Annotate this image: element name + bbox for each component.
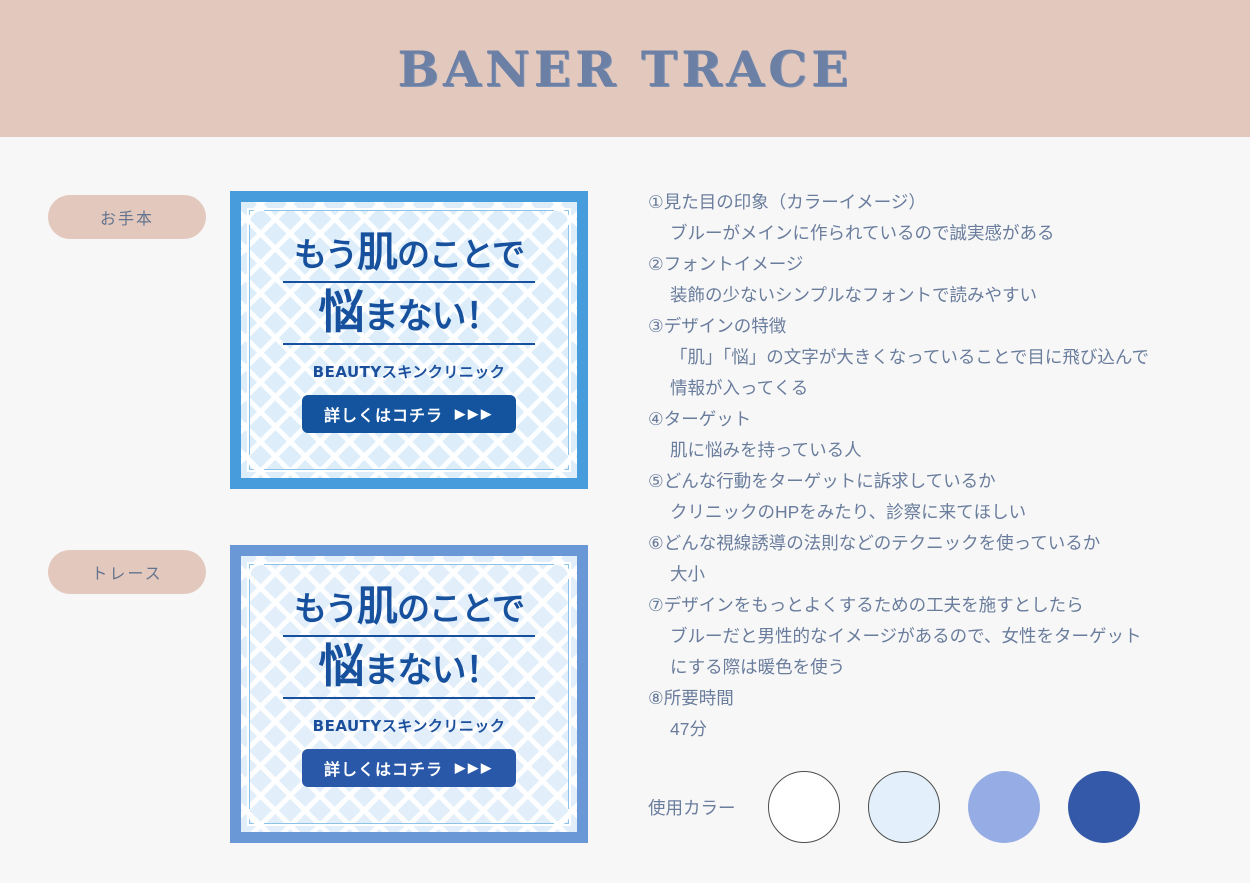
- colors-used-row: 使用カラー: [640, 771, 1250, 843]
- headline1-emphasis-hada: 肌: [357, 228, 397, 276]
- color-swatch-white: [768, 771, 840, 843]
- banner-headline-2: 悩まない！: [318, 287, 499, 338]
- banner-trace-content: もう肌のことで 悩まない！ BEAUTYスキンクリニック 詳しくはコチラ ▶▶▶: [241, 556, 577, 832]
- headline2-part: まない！: [363, 297, 499, 337]
- headline-divider-bottom: [283, 343, 535, 345]
- analysis-note-line: 情報が入ってくる: [648, 373, 1250, 404]
- analysis-note-line: ⑤どんな行動をターゲットに訴求しているか: [648, 466, 1250, 497]
- analysis-note-line: ④ターゲット: [648, 404, 1250, 435]
- analysis-column: ①見た目の印象（カラーイメージ）ブルーがメインに作られているので誠実感がある②フ…: [640, 137, 1250, 883]
- banner-otehon-content: もう肌のことで 悩まない！ BEAUTYスキンクリニック 詳しくはコチラ ▶▶▶: [241, 202, 577, 478]
- analysis-note-line: 肌に悩みを持っている人: [648, 435, 1250, 466]
- analysis-note-line: 47分: [648, 714, 1250, 745]
- banner-clinic-name: BEAUTYスキンクリニック: [313, 715, 506, 736]
- analysis-note-line: ③デザインの特徴: [648, 311, 1250, 342]
- label-trace-text: トレース: [91, 560, 162, 584]
- cta-label: 詳しくはコチラ: [324, 756, 443, 780]
- headline-divider-top: [283, 635, 535, 637]
- headline1-part-a: もう: [294, 589, 357, 628]
- page-title: BANER TRACE: [398, 40, 853, 98]
- headline-divider-bottom: [283, 697, 535, 699]
- analysis-note-line: ⑥どんな視線誘導の法則などのテクニックを使っているか: [648, 528, 1250, 559]
- analysis-note-line: ⑦デザインをもっとよくするための工夫を施すとしたら: [648, 590, 1250, 621]
- cta-label: 詳しくはコチラ: [324, 402, 443, 426]
- page-body: お手本 もう肌のことで 悩まない！ BEAUTYスキンクリニック 詳しく: [0, 137, 1250, 883]
- color-swatch-royal-blue: [1068, 771, 1140, 843]
- banner-trace: もう肌のことで 悩まない！ BEAUTYスキンクリニック 詳しくはコチラ ▶▶▶: [230, 545, 588, 843]
- banner-clinic-name: BEAUTYスキンクリニック: [313, 361, 506, 382]
- analysis-note-line: 大小: [648, 559, 1250, 590]
- cta-arrows-icon: ▶▶▶: [455, 406, 494, 422]
- banner-trace-inner: もう肌のことで 悩まない！ BEAUTYスキンクリニック 詳しくはコチラ ▶▶▶: [241, 556, 577, 832]
- colors-used-label: 使用カラー: [648, 795, 736, 820]
- analysis-note-line: ②フォントイメージ: [648, 249, 1250, 280]
- color-swatch-periwinkle-blue: [968, 771, 1040, 843]
- headline1-part-b: のことで: [397, 589, 524, 628]
- analysis-note-line: 装飾の少ないシンプルなフォントで読みやすい: [648, 280, 1250, 311]
- color-swatch-group: [768, 771, 1140, 843]
- banner-cta-button[interactable]: 詳しくはコチラ ▶▶▶: [302, 395, 516, 433]
- headline1-part-a: もう: [294, 235, 357, 274]
- banners-column: お手本 もう肌のことで 悩まない！ BEAUTYスキンクリニック 詳しく: [0, 137, 640, 883]
- analysis-note-line: ブルーだと男性的なイメージがあるので、女性をターゲット: [648, 621, 1250, 652]
- color-swatch-pale-blue: [868, 771, 940, 843]
- cta-arrows-icon: ▶▶▶: [455, 760, 494, 776]
- label-trace: トレース: [48, 550, 206, 594]
- banner-otehon: もう肌のことで 悩まない！ BEAUTYスキンクリニック 詳しくはコチラ ▶▶▶: [230, 191, 588, 489]
- analysis-note-line: ①見た目の印象（カラーイメージ）: [648, 187, 1250, 218]
- headline1-part-b: のことで: [397, 235, 524, 274]
- banner-headline-2: 悩まない！: [318, 641, 499, 692]
- label-otehon-text: お手本: [100, 205, 154, 229]
- analysis-note-line: 「肌」「悩」の文字が大きくなっていることで目に飛び込んで: [648, 342, 1250, 373]
- headline-divider-top: [283, 281, 535, 283]
- headline2-part: まない！: [363, 651, 499, 691]
- headline1-emphasis-hada: 肌: [357, 582, 397, 630]
- label-otehon: お手本: [48, 195, 206, 239]
- banner-otehon-inner: もう肌のことで 悩まない！ BEAUTYスキンクリニック 詳しくはコチラ ▶▶▶: [241, 202, 577, 478]
- analysis-note-line: ブルーがメインに作られているので誠実感がある: [648, 218, 1250, 249]
- headline2-emphasis-nayami: 悩: [318, 285, 363, 339]
- analysis-note-line: クリニックのHPをみたり、診察に来てほしい: [648, 497, 1250, 528]
- banner-headline-1: もう肌のことで: [294, 584, 524, 630]
- banner-cta-button[interactable]: 詳しくはコチラ ▶▶▶: [302, 749, 516, 787]
- headline2-emphasis-nayami: 悩: [318, 639, 363, 693]
- analysis-note-line: にする際は暖色を使う: [648, 652, 1250, 683]
- analysis-notes: ①見た目の印象（カラーイメージ）ブルーがメインに作られているので誠実感がある②フ…: [640, 187, 1250, 745]
- page-header: BANER TRACE: [0, 0, 1250, 137]
- banner-headline-1: もう肌のことで: [294, 230, 524, 276]
- analysis-note-line: ⑧所要時間: [648, 683, 1250, 714]
